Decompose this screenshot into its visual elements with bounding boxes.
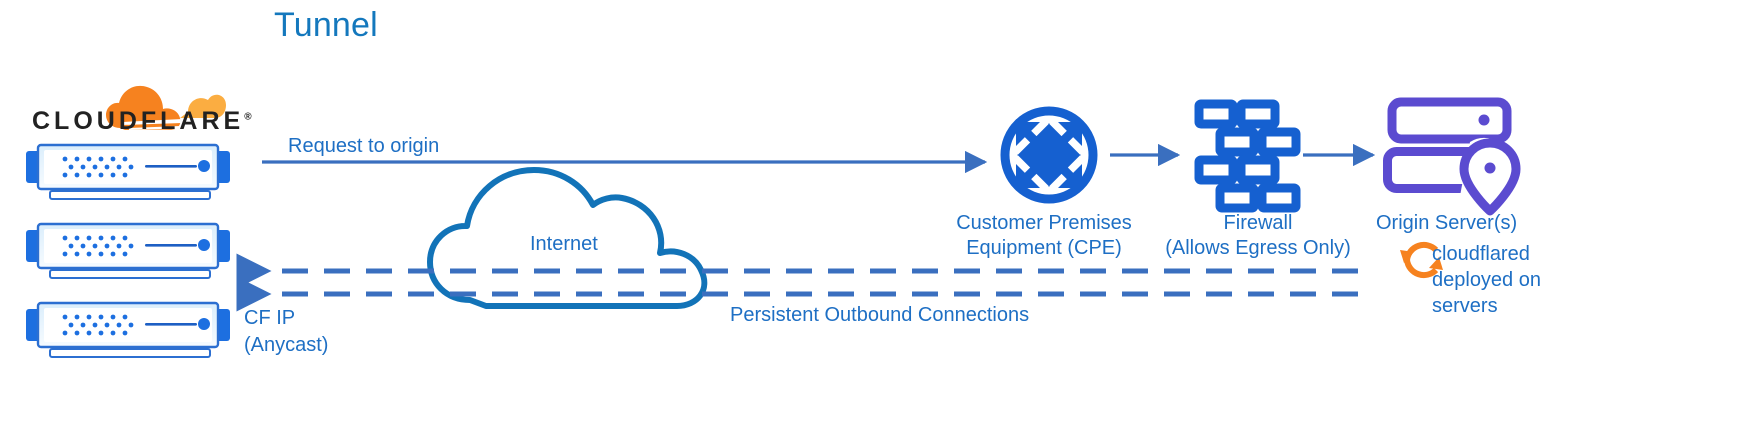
internet-label: Internet [530, 232, 598, 257]
cloudflared-label-line3: servers [1432, 293, 1572, 319]
brick-wall-icon [1199, 104, 1296, 208]
page-title: Tunnel [274, 6, 378, 45]
firewall-label-line2: (Allows Egress Only) [1160, 236, 1356, 261]
cpe-label-line1: Customer Premises [948, 211, 1140, 236]
firewall-label: Firewall (Allows Egress Only) [1160, 211, 1356, 261]
persistent-outbound-label: Persistent Outbound Connections [730, 303, 1029, 328]
request-to-origin-label: Request to origin [288, 134, 439, 159]
rack-server-icon [24, 143, 232, 205]
cpe-label-line2: Equipment (CPE) [948, 236, 1140, 261]
origin-server-label: Origin Server(s) [1376, 211, 1517, 236]
persistent-outbound-dashed-lines [268, 271, 1358, 294]
converging-arrows-circle-icon [1005, 111, 1093, 199]
cf-ip-label: CF IP (Anycast) [244, 305, 394, 359]
rack-server-icon [24, 301, 232, 363]
cloudflare-wordmark: CLOUDFLARE® [32, 107, 252, 136]
server-location-pin-icon [1388, 102, 1517, 216]
diagram-canvas: Tunnel CLOUDFLARE® [0, 0, 1754, 422]
cf-ip-label-line1: CF IP [244, 305, 394, 332]
cloudflared-label-line2: deployed on [1432, 267, 1572, 293]
rack-server-icon [24, 222, 232, 284]
cloudflared-label-line1: cloudflared [1432, 241, 1572, 267]
cloudflared-label: cloudflared deployed on servers [1432, 241, 1572, 319]
firewall-label-line1: Firewall [1160, 211, 1356, 236]
cf-ip-label-line2: (Anycast) [244, 332, 394, 359]
cpe-label: Customer Premises Equipment (CPE) [948, 211, 1140, 261]
